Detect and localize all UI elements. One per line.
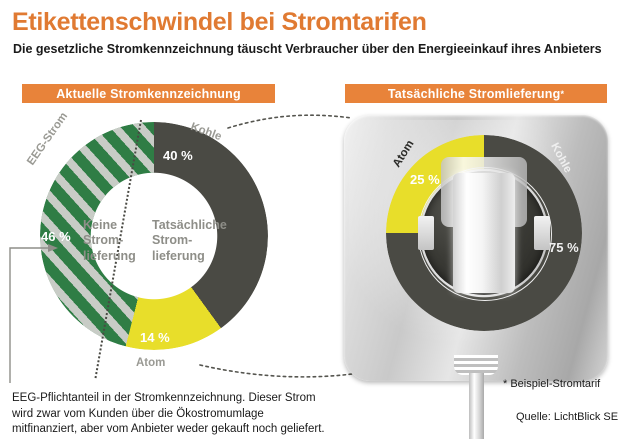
page-subtitle: Die gesetzliche Stromkennzeichnung täusc… [13,42,602,56]
source-credit: Quelle: LichtBlick SE [516,411,618,423]
power-socket-icon [422,171,546,295]
center-label-keine-line-1: Keine [83,218,136,233]
segment-value-atom-left: 14 % [140,330,170,345]
earth-contact-left-icon [418,216,434,250]
center-label-keine-stromlieferung: Keine Strom- lieferung [83,218,136,264]
section-header-left-label: Aktuelle Stromkennzeichnung [56,87,241,101]
footnote-arrow-icon [0,225,70,385]
section-header-right-label: Tatsächliche Stromlieferung [388,87,561,101]
plug-cable-icon [469,373,484,439]
section-header-left: Aktuelle Stromkennzeichnung [22,84,275,103]
donut-chart-right [386,135,582,331]
plug-cable-collar-icon [454,355,498,375]
page-title: Etikettenschwindel bei Stromtarifen [12,8,427,37]
center-label-tats-line-1: Tatsächliche [152,218,227,233]
footnote-example-tariff: * Beispiel-Stromtarif [503,378,600,390]
segment-value-kohle-right: 75 % [549,240,579,255]
center-label-tats-line-3: lieferung [152,249,227,264]
center-label-keine-line-2: Strom- [83,233,136,248]
segment-value-atom-right: 25 % [410,172,440,187]
center-label-tatsaechliche-stromlieferung: Tatsächliche Strom- lieferung [152,218,227,264]
infographic-root: Etikettenschwindel bei Stromtarifen Die … [0,0,630,446]
segment-value-kohle-left: 40 % [163,148,193,163]
center-label-tats-line-2: Strom- [152,233,227,248]
footnote-eeg: EEG-Pflichtanteil in der Stromkennzeichn… [12,391,330,438]
section-header-right: Tatsächliche Stromlieferung* [345,84,607,103]
segment-label-atom-left: Atom [136,357,165,369]
center-label-keine-line-3: lieferung [83,249,136,264]
earth-contact-right-icon [534,216,550,250]
plug-body-icon [453,173,515,293]
